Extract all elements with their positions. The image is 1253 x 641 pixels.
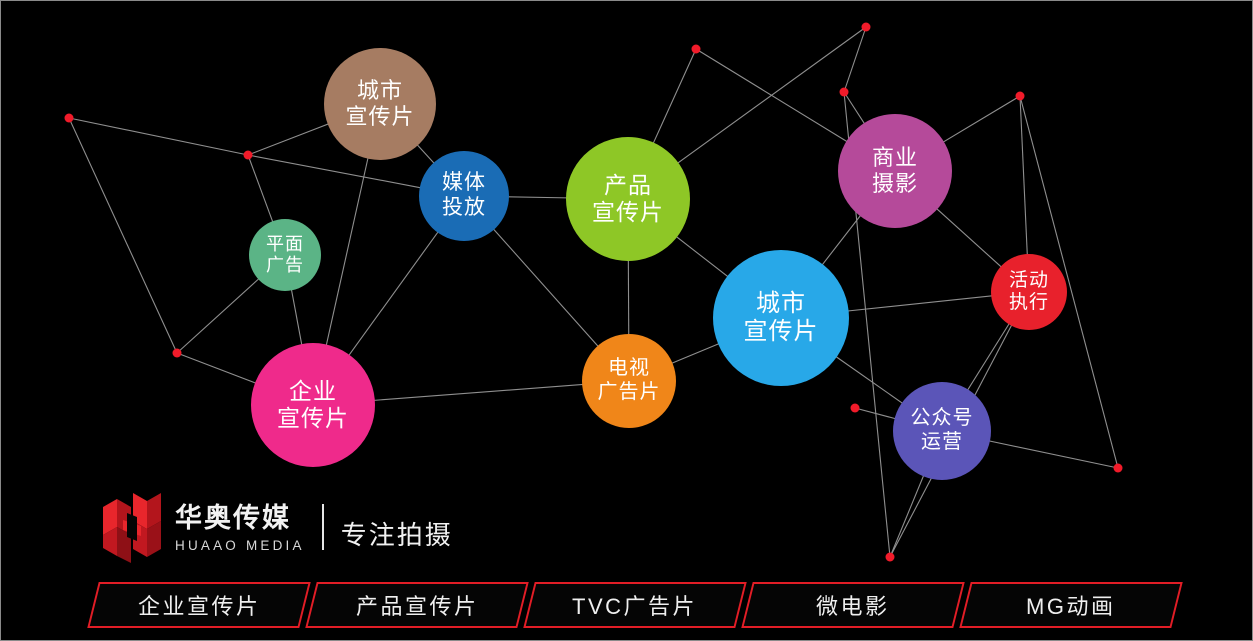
- bubble-label-line: 媒体: [442, 171, 486, 196]
- network-node[interactable]: [840, 88, 849, 97]
- nav-button-4[interactable]: 微电影: [741, 582, 964, 628]
- bubble-commercial-photography[interactable]: 商业摄影: [838, 114, 952, 228]
- nav-button-label: 企业宣传片: [138, 589, 261, 621]
- bubble-label-line: 电视: [608, 357, 650, 381]
- network-edge: [836, 356, 903, 403]
- network-edge: [844, 27, 866, 92]
- bubble-label-line: 摄影: [872, 171, 918, 197]
- network-node[interactable]: [244, 151, 253, 160]
- network-edge: [677, 27, 866, 163]
- network-edge: [676, 236, 728, 276]
- network-node[interactable]: [173, 349, 182, 358]
- bubble-print-advertising[interactable]: 平面广告: [249, 219, 321, 291]
- network-node[interactable]: [886, 553, 895, 562]
- bubble-label-line: 商业: [872, 145, 918, 171]
- bubble-official-account-ops[interactable]: 公众号运营: [893, 382, 991, 480]
- category-navbar: 企业宣传片产品宣传片TVC广告片微电影MG动画: [1, 582, 1253, 634]
- network-node[interactable]: [1114, 464, 1123, 473]
- bubble-label-line: 广告片: [598, 381, 661, 405]
- network-edge: [943, 96, 1020, 142]
- bubble-tv-commercial[interactable]: 电视广告片: [582, 334, 676, 428]
- nav-button-label: 微电影: [816, 589, 890, 621]
- nav-button-1[interactable]: 企业宣传片: [87, 582, 310, 628]
- network-edge: [671, 344, 719, 364]
- network-edges: [69, 27, 1118, 557]
- network-edge: [937, 209, 1002, 268]
- presentation-slide: 城市宣传片媒体投放平面广告企业宣传片产品宣传片电视广告片城市宣传片商业摄影活动执…: [0, 0, 1253, 641]
- bubble-enterprise-promo[interactable]: 企业宣传片: [251, 343, 375, 467]
- network-node[interactable]: [851, 404, 860, 413]
- network-edge: [177, 353, 256, 383]
- network-node[interactable]: [1016, 92, 1025, 101]
- nav-button-5[interactable]: MG动画: [959, 582, 1182, 628]
- bubble-label-line: 宣传片: [345, 104, 414, 130]
- network-edge: [653, 49, 696, 143]
- network-edge: [508, 197, 567, 198]
- bubble-label-line: 宣传片: [592, 199, 664, 226]
- bubble-label-line: 执行: [1009, 292, 1049, 314]
- bubble-label-line: 活动: [1009, 270, 1049, 292]
- network-edge: [822, 215, 861, 265]
- nav-button-2[interactable]: 产品宣传片: [305, 582, 528, 628]
- huaao-logo-mark: [101, 493, 163, 563]
- bubble-event-execution[interactable]: 活动执行: [991, 254, 1067, 330]
- brand-wordmark: 华奥传媒 HUAAO MEDIA 专注拍摄: [175, 504, 453, 552]
- network-edge: [848, 296, 993, 311]
- network-edge: [326, 158, 368, 346]
- bubble-label-line: 宣传片: [277, 405, 349, 432]
- network-node[interactable]: [862, 23, 871, 32]
- bubble-label-line: 产品: [604, 172, 652, 199]
- network-edge: [291, 289, 301, 345]
- bubble-label-line: 公众号: [911, 407, 974, 431]
- brand-name-en: HUAAO MEDIA: [175, 539, 305, 553]
- bubble-label-line: 平面: [266, 234, 304, 255]
- network-edge: [248, 155, 273, 222]
- network-edge: [890, 475, 924, 557]
- network-edge: [349, 232, 439, 356]
- network-edge: [248, 155, 421, 188]
- network-node[interactable]: [692, 45, 701, 54]
- brand-slogan: 专注拍摄: [341, 515, 453, 552]
- brand-logo: 华奥传媒 HUAAO MEDIA 专注拍摄: [101, 493, 453, 563]
- bubble-city-promo-blue[interactable]: 城市宣传片: [713, 250, 849, 386]
- bubble-label-line: 企业: [289, 378, 337, 405]
- bubble-label-line: 宣传片: [744, 318, 819, 346]
- nav-button-label: MG动画: [1026, 589, 1115, 621]
- network-nodes: [65, 23, 1123, 562]
- bubble-label-line: 城市: [756, 290, 806, 318]
- network-node[interactable]: [65, 114, 74, 123]
- network-edge: [493, 229, 598, 347]
- bubble-label-line: 城市: [357, 78, 403, 104]
- logo-divider: [322, 504, 324, 550]
- nav-button-label: TVC广告片: [572, 589, 697, 621]
- bubble-label-line: 运营: [921, 431, 963, 455]
- network-edge: [967, 323, 1009, 390]
- bubble-product-promo[interactable]: 产品宣传片: [566, 137, 690, 261]
- brand-name-cn: 华奥传媒: [175, 505, 305, 532]
- network-edge: [69, 118, 177, 353]
- bubble-media-placement[interactable]: 媒体投放: [419, 151, 509, 241]
- network-edge: [989, 441, 1118, 468]
- bubble-label-line: 广告: [266, 255, 304, 276]
- nav-button-3[interactable]: TVC广告片: [523, 582, 746, 628]
- network-edge: [417, 145, 434, 164]
- network-edge: [69, 118, 248, 155]
- bubble-label-line: 投放: [442, 196, 486, 221]
- bubble-city-promo-brown[interactable]: 城市宣传片: [324, 48, 436, 160]
- network-edge: [374, 384, 583, 400]
- network-edge: [177, 279, 259, 353]
- nav-button-label: 产品宣传片: [356, 589, 479, 621]
- network-edge: [248, 124, 329, 155]
